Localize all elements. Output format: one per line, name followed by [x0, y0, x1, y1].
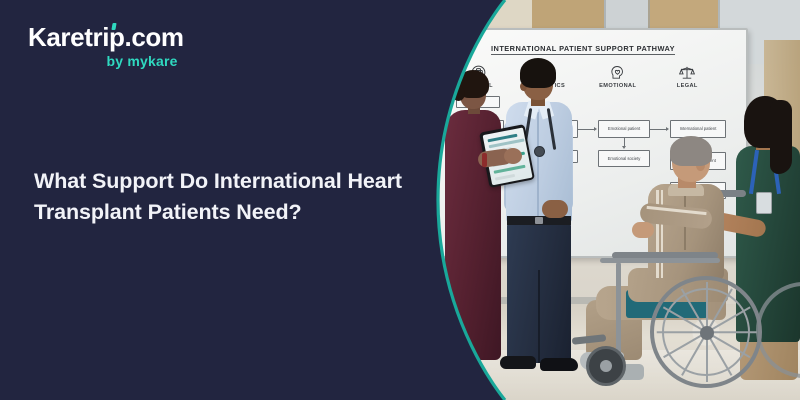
brand-logo[interactable]: Karetrip.com by mykare — [28, 24, 184, 69]
nurse-hair — [770, 100, 792, 174]
flow-arrowhead — [622, 146, 626, 149]
category-label: EMOTIONAL — [589, 83, 647, 89]
logo-brand-text: Karetrip.com — [28, 24, 184, 50]
left-content-panel: Karetrip.com by mykare What Support Do I… — [0, 0, 430, 400]
flow-connector — [578, 129, 594, 130]
woman-wrist-band — [482, 153, 487, 167]
wheelchair-caster-hub — [600, 360, 612, 372]
woman-hand — [504, 148, 522, 164]
doctor-hands — [542, 200, 568, 218]
whiteboard-title: INTERNATIONAL PATIENT SUPPORT PATHWAY — [491, 44, 675, 55]
flow-box: Emotional patient — [598, 120, 650, 138]
woman-hair-bun — [452, 86, 465, 101]
doctor-shoe — [500, 356, 536, 369]
flow-connector — [624, 138, 625, 146]
logo-tagline: by mykare — [28, 53, 184, 69]
flow-box: Emotional society — [598, 150, 650, 167]
patient-tracksuit-jacket — [648, 184, 724, 280]
category-emotional: EMOTIONAL — [589, 62, 647, 89]
flow-connector — [650, 129, 666, 130]
wheelchair-hub — [700, 326, 714, 340]
nurse-id-badge — [756, 192, 772, 214]
doctor-hair — [520, 58, 556, 88]
blog-banner: INTERNATIONAL PATIENT SUPPORT PATHWAY ME… — [0, 0, 800, 400]
category-legal: LEGAL — [658, 62, 716, 89]
patient-hand — [632, 222, 654, 238]
doctor-shoe — [540, 358, 578, 371]
flow-box: International patient — [670, 120, 726, 138]
window-pane — [604, 0, 648, 30]
doctor-belt-buckle — [535, 217, 543, 224]
hero-photo: INTERNATIONAL PATIENT SUPPORT PATHWAY ME… — [400, 0, 800, 400]
whiteboard-title-row: INTERNATIONAL PATIENT SUPPORT PATHWAY — [430, 38, 736, 56]
doctor-shirt-placket — [537, 112, 539, 216]
flow-arrowhead — [594, 127, 597, 131]
page-title: What Support Do International Heart Tran… — [34, 166, 424, 227]
doctor-leg-seam — [538, 270, 540, 363]
category-label: LEGAL — [658, 83, 716, 89]
stethoscope-bell — [534, 146, 545, 157]
heart-in-head-icon — [589, 62, 647, 82]
flow-arrowhead — [666, 127, 669, 131]
patient-hair — [670, 136, 712, 166]
scales-of-justice-icon — [658, 62, 716, 82]
photo-background: INTERNATIONAL PATIENT SUPPORT PATHWAY ME… — [400, 0, 800, 400]
